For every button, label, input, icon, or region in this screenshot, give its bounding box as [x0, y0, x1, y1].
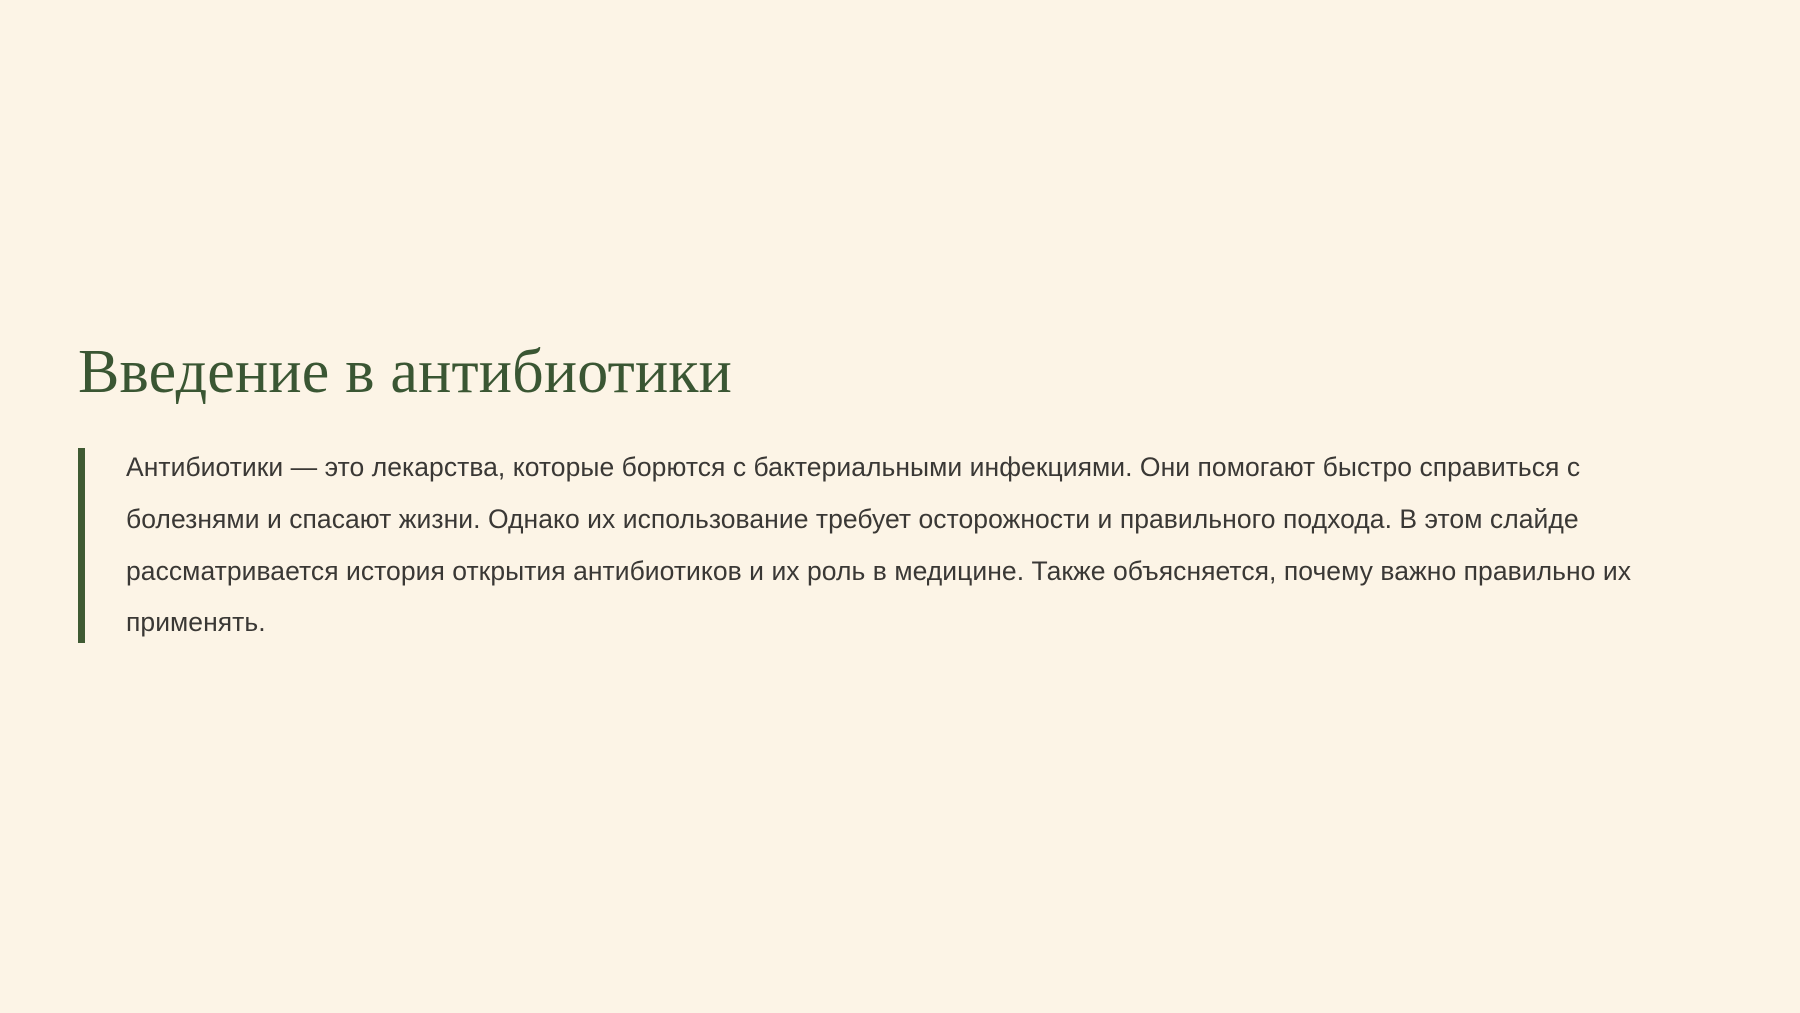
slide-content-block: Введение в антибиотики Антибиотики — это… [78, 338, 1718, 649]
page-title: Введение в антибиотики [78, 338, 1718, 406]
accent-bar [78, 448, 85, 643]
body-paragraph: Антибиотики — это лекарства, которые бор… [126, 442, 1638, 649]
body-callout: Антибиотики — это лекарства, которые бор… [78, 442, 1638, 649]
slide-canvas: Введение в антибиотики Антибиотики — это… [0, 0, 1800, 1013]
